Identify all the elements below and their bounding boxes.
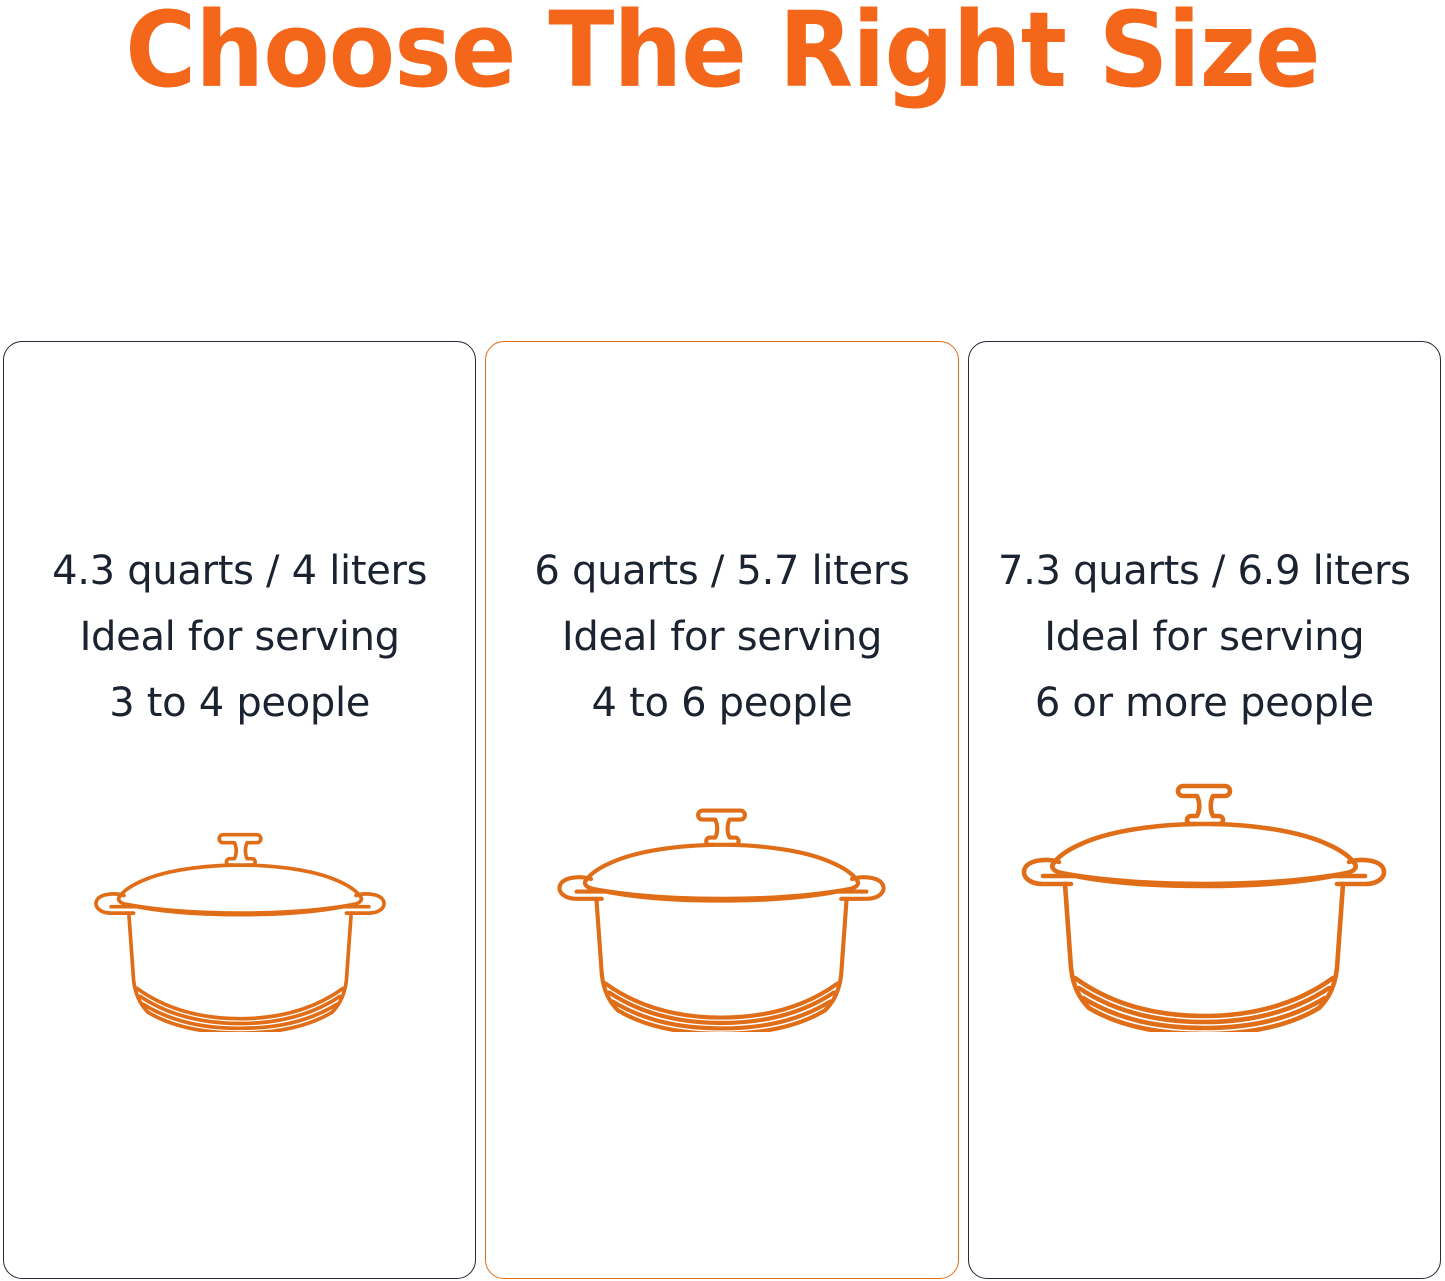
dutch-oven-illustration-wrap [486,798,957,1032]
dutch-oven-icon [537,798,906,1032]
dutch-oven-illustration-wrap [4,823,475,1032]
size-card-7-3-quart[interactable]: 7.3 quarts / 6.9 liters Ideal for servin… [968,341,1441,1279]
serving-label: Ideal for serving [4,604,475,670]
size-card-text-block: 6 quarts / 5.7 liters Ideal for serving … [486,538,957,736]
serving-label: Ideal for serving [969,604,1440,670]
page-title: Choose The Right Size [51,0,1395,104]
serving-count-label: 3 to 4 people [4,670,475,736]
size-card-row: 4.3 quarts / 4 liters Ideal for serving … [3,341,1441,1279]
capacity-label: 4.3 quarts / 4 liters [4,538,475,604]
capacity-label: 7.3 quarts / 6.9 liters [969,538,1440,604]
size-card-text-block: 4.3 quarts / 4 liters Ideal for serving … [4,538,475,736]
size-guide-infographic: Choose The Right Size 4.3 quarts / 4 lit… [0,0,1445,1281]
serving-count-label: 4 to 6 people [486,670,957,736]
capacity-label: 6 quarts / 5.7 liters [486,538,957,604]
size-card-4-3-quart[interactable]: 4.3 quarts / 4 liters Ideal for serving … [3,341,476,1279]
size-card-text-block: 7.3 quarts / 6.9 liters Ideal for servin… [969,538,1440,736]
dutch-oven-illustration-wrap [969,772,1440,1032]
dutch-oven-icon [76,823,404,1032]
serving-count-label: 6 or more people [969,670,1440,736]
serving-label: Ideal for serving [486,604,957,670]
dutch-oven-icon [999,772,1409,1032]
size-card-6-quart[interactable]: 6 quarts / 5.7 liters Ideal for serving … [485,341,958,1279]
